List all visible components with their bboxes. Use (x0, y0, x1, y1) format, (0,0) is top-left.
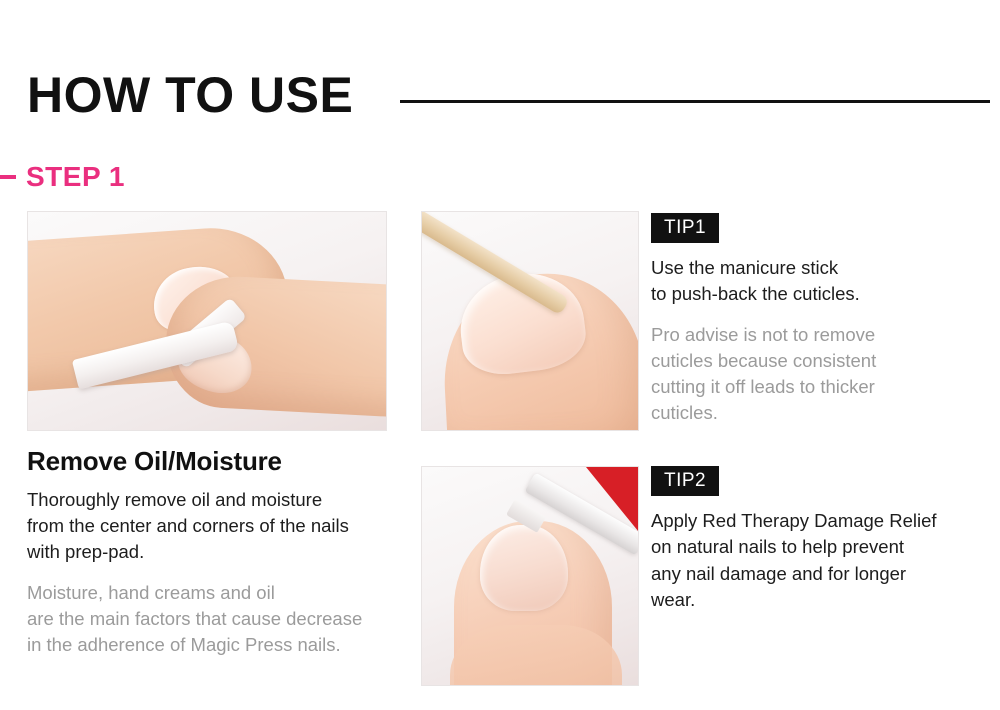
manicure-stick-photo (421, 211, 639, 431)
section-body-text: Thoroughly remove oil and moisture from … (27, 487, 427, 566)
tip-2-badge: TIP2 (651, 466, 719, 496)
tip-2-body-text: Apply Red Therapy Damage Relief on natur… (651, 508, 991, 613)
knuckle-shape (450, 625, 622, 686)
nail-shape (480, 525, 568, 611)
red-therapy-photo (421, 466, 639, 686)
remove-oil-text-block: Remove Oil/Moisture Thoroughly remove oi… (27, 447, 427, 658)
tip-1-badge: TIP1 (651, 213, 719, 243)
tip-2-block: TIP2 Apply Red Therapy Damage Relief on … (651, 466, 991, 627)
step-label: STEP 1 (26, 163, 125, 191)
tip-1-block: TIP1 Use the manicure stick to push-back… (651, 213, 991, 427)
title-divider-rule (400, 100, 990, 103)
section-note-text: Moisture, hand creams and oil are the ma… (27, 580, 427, 659)
step-dash-icon (0, 175, 16, 179)
page-title: HOW TO USE (27, 70, 353, 120)
section-heading: Remove Oil/Moisture (27, 447, 427, 477)
tip-1-body-text: Use the manicure stick to push-back the … (651, 255, 991, 308)
tip-1-note-text: Pro advise is not to remove cuticles bec… (651, 322, 991, 427)
step-label-row: STEP 1 (0, 163, 125, 191)
remove-oil-photo (27, 211, 387, 431)
